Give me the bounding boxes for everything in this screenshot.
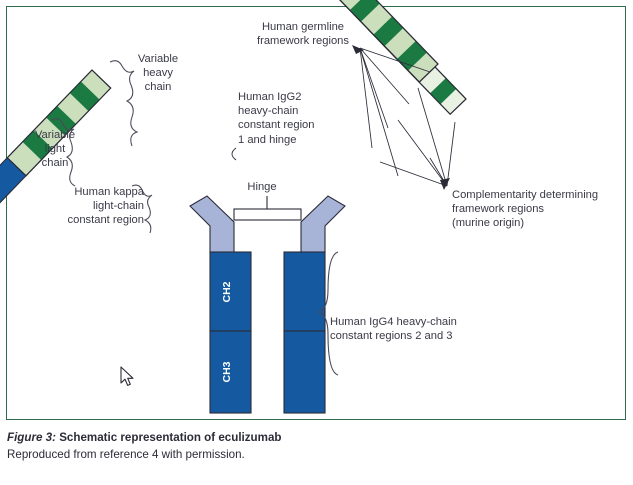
figure-credit: Reproduced from reference 4 with permiss… xyxy=(7,447,627,463)
label-human-igg2-constant-region: Human IgG2 heavy-chain constant region 1… xyxy=(238,90,348,147)
left-hinge-shoulder xyxy=(190,196,234,252)
right-ch2-domain xyxy=(284,252,325,331)
right-ch3-domain xyxy=(284,331,325,413)
mouse-cursor xyxy=(120,366,136,388)
figure-caption: Figure 3: Schematic representation of ec… xyxy=(7,430,627,463)
figure-panel: CL CH1 xyxy=(0,0,633,485)
hinge-connector xyxy=(234,209,301,220)
label-variable-heavy-chain: Variable heavy chain xyxy=(118,52,198,95)
figure-number: Figure 3: xyxy=(7,431,56,444)
label-human-germline-framework-regions: Human germline framework regions xyxy=(243,20,363,48)
figure-caption-line1: Figure 3: Schematic representation of ec… xyxy=(7,431,281,444)
right-hinge-shoulder xyxy=(301,196,345,252)
label-hinge: Hinge xyxy=(240,180,284,194)
figure-title: Schematic representation of eculizumab xyxy=(59,431,281,444)
igg2-leader-brace xyxy=(232,148,236,160)
label-variable-light-chain: Variable light chain xyxy=(14,128,96,171)
ch2-label: CH2 xyxy=(221,281,233,302)
label-human-kappa-light-chain-constant-region: Human kappa light-chain constant region xyxy=(12,185,144,228)
ch3-label: CH3 xyxy=(221,361,233,382)
label-human-igg4-constant-regions: Human IgG4 heavy-chain constant regions … xyxy=(330,315,510,343)
label-complementarity-determining-regions: Complementarity determining framework re… xyxy=(452,188,624,231)
